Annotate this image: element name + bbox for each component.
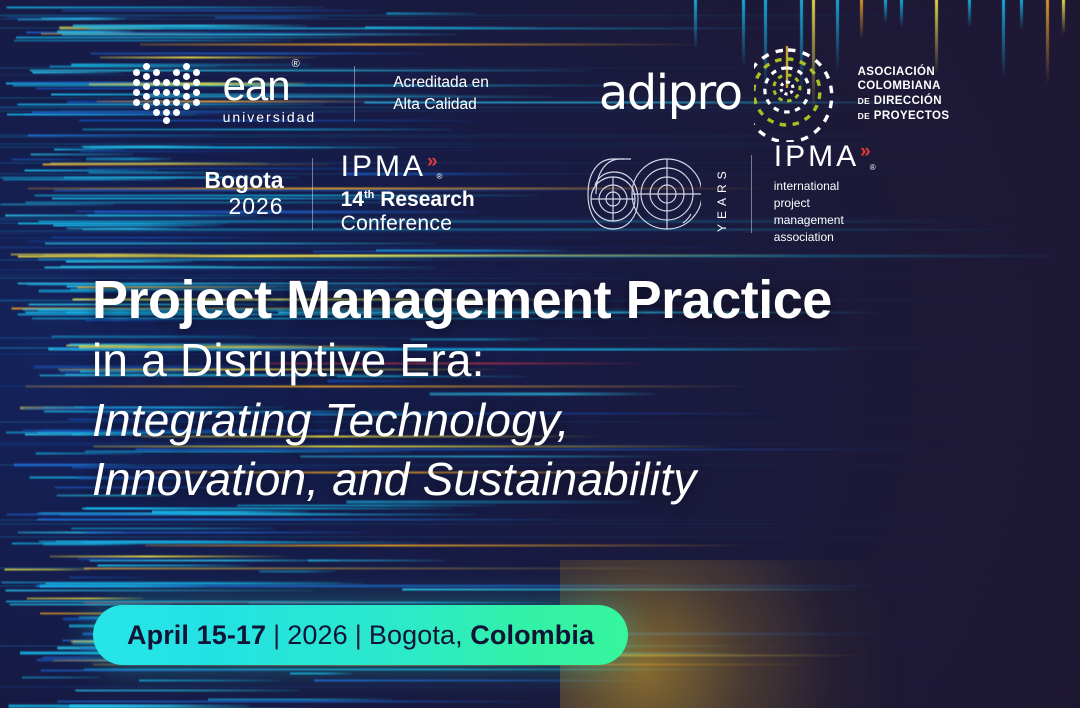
conference-divider: [312, 158, 313, 230]
ipma-registered-icon: ®: [437, 172, 443, 181]
pill-separator-1: |: [273, 620, 280, 650]
ean-divider: [354, 66, 355, 122]
ipma-association-text: international project management associa…: [774, 178, 876, 246]
ipma-logo-anniversary: IPMA » ®: [774, 142, 876, 172]
ean-registered-icon: ®: [292, 58, 299, 70]
adipro-association-text: ASOCIACIÓN COLOMBIANA DE DIRECCIÓN DE PR…: [858, 65, 950, 124]
ean-dot-mark-icon: [131, 63, 205, 125]
headline-line-1: Project Management Practice: [92, 272, 1032, 329]
date-location-pill: April 15-17|2026|Bogota, Colombia: [93, 605, 628, 665]
ean-university-logo: ean® universidad Acreditada en Alta Cali…: [131, 63, 489, 125]
date-location-text: April 15-17|2026|Bogota, Colombia: [127, 620, 594, 651]
ipma-association-block: IPMA » ® international project managemen…: [774, 142, 876, 246]
ipma-registered-icon-anniversary: ®: [870, 163, 876, 172]
anniversary-divider: [751, 155, 752, 233]
edition-word: Research: [380, 188, 475, 211]
pill-dates: April 15-17: [127, 620, 266, 650]
ipma-wordmark-anniversary: IPMA: [774, 142, 859, 172]
ipma-60-anniversary-logo: YEARS IPMA » ® international project man…: [583, 142, 876, 246]
adipro-logo: adipro ASOCIACIÓN COLOMBIANA DE DIRECCIÓ…: [599, 46, 950, 142]
pill-year: 2026: [287, 620, 347, 650]
edition-suffix: th: [364, 189, 374, 201]
ipma-assoc-line-3: management: [774, 212, 876, 229]
pill-country: Colombia: [470, 620, 594, 650]
adipro-line-3: DE DIRECCIÓN: [858, 94, 950, 109]
pill-city: Bogota,: [369, 620, 463, 650]
ean-wordmark: ean® universidad: [223, 65, 317, 124]
logo-row-bottom: Bogota 2026 IPMA » ® 14th Research Confe…: [0, 142, 1080, 246]
conference-banner: ean® universidad Acreditada en Alta Cali…: [0, 0, 1080, 708]
conference-title-block: IPMA » ® 14th Research Conference: [341, 152, 475, 237]
conference-city: Bogota: [204, 168, 283, 194]
adipro-line-3-prefix: DE: [858, 96, 871, 106]
ipma-logo-conference: IPMA » ®: [341, 152, 475, 182]
headline-line-3: Integrating Technology,: [92, 395, 1032, 447]
ean-accreditation: Acreditada en Alta Calidad: [393, 72, 489, 117]
adipro-line-4-main: PROYECTOS: [874, 110, 950, 122]
edition-number: 14: [341, 188, 364, 211]
conference-word: Conference: [341, 212, 475, 236]
logo-row-top: ean® universidad Acreditada en Alta Cali…: [0, 46, 1080, 142]
conference-edition: 14th Research: [341, 188, 475, 212]
ipma-assoc-line-2: project: [774, 195, 876, 212]
ean-subtitle: universidad: [223, 110, 317, 124]
headline-block: Project Management Practice in a Disrupt…: [92, 272, 1032, 506]
adipro-line-4-prefix: DE: [858, 111, 871, 121]
sixty-years-icon: [583, 152, 701, 236]
ipma-conference-logo: Bogota 2026 IPMA » ® 14th Research Confe…: [204, 152, 474, 237]
adipro-line-2: COLOMBIANA: [858, 79, 950, 94]
adipro-line-1: ASOCIACIÓN: [858, 65, 950, 80]
ipma-chevron-icon: »: [427, 152, 435, 171]
adipro-wordmark: adipro: [599, 72, 742, 115]
headline-line-4: Innovation, and Sustainability: [92, 454, 1032, 506]
accreditation-line-1: Acreditada en: [393, 72, 489, 94]
adipro-line-4: DE PROYECTOS: [858, 109, 950, 124]
conference-year: 2026: [204, 194, 283, 220]
pill-separator-2: |: [355, 620, 362, 650]
headline-line-2: in a Disruptive Era:: [92, 335, 1032, 387]
ipma-wordmark: IPMA: [341, 152, 426, 182]
ipma-chevron-icon-anniversary: »: [860, 142, 868, 161]
ipma-assoc-line-4: association: [774, 229, 876, 246]
years-label: YEARS: [715, 156, 729, 232]
ean-word-text: ean: [223, 62, 290, 109]
adipro-line-3-main: DIRECCIÓN: [874, 95, 942, 107]
ipma-assoc-line-1: international: [774, 178, 876, 195]
adipro-dotted-spiral-icon: [754, 46, 846, 142]
conference-location: Bogota 2026: [204, 168, 283, 220]
accreditation-line-2: Alta Calidad: [393, 94, 489, 116]
